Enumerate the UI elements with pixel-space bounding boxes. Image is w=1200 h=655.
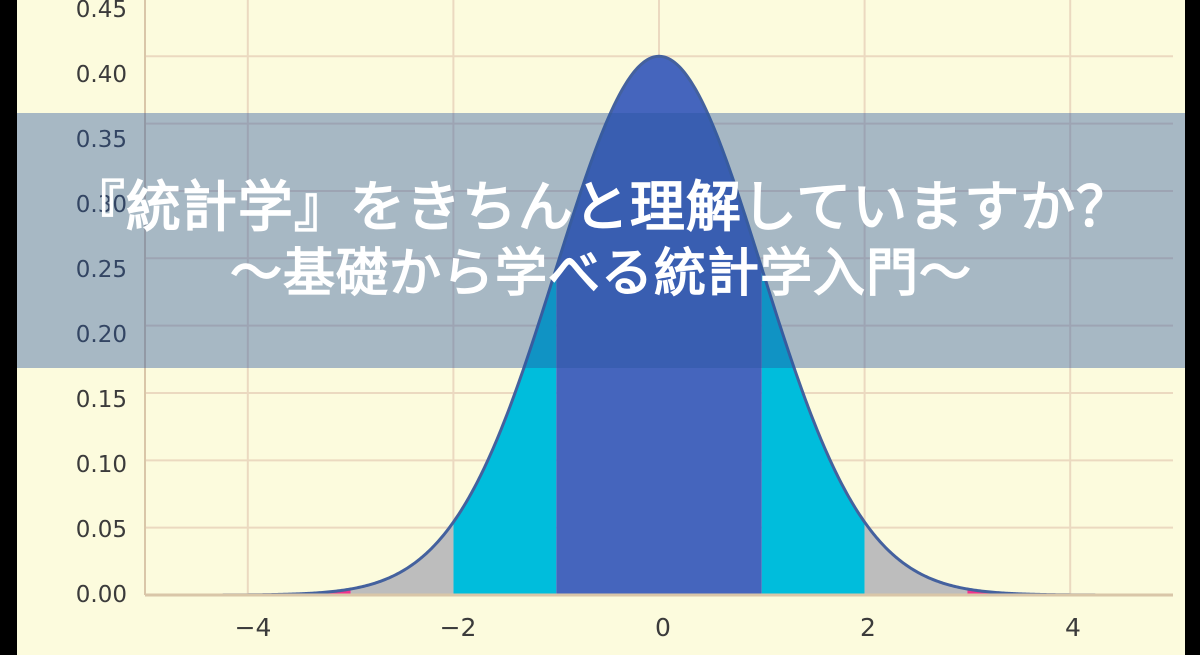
x-tick-label: −4 [213, 613, 293, 642]
x-tick-label: 4 [1033, 613, 1113, 642]
x-tick-label: 0 [623, 613, 703, 642]
shaded-region-2-to-3-sd-r [865, 522, 968, 595]
shaded-region-2-to-3-sd [351, 522, 454, 595]
y-tick-label: 0.15 [17, 387, 127, 413]
title-line-1: 『統計学』をきちんと理解していますか？ [70, 175, 1132, 240]
y-tick-label: 0.40 [17, 62, 127, 88]
screenshot-root: Probability density 0.45 0.40 0.35 0.30 … [0, 0, 1200, 655]
title-line-2: 〜基礎から学べる統計学入門〜 [230, 244, 972, 305]
y-tick-label: 0.05 [17, 517, 127, 543]
y-tick-label: 0.45 [17, 0, 127, 23]
y-tick-label: 0.10 [17, 452, 127, 478]
left-letterbox-bar [0, 0, 17, 655]
x-tick-label: 2 [828, 613, 908, 642]
right-letterbox-bar [1185, 0, 1200, 655]
title-overlay-text: 『統計学』をきちんと理解していますか？ 〜基礎から学べる統計学入門〜 [17, 113, 1185, 368]
y-tick-label: 0.00 [17, 582, 127, 608]
x-tick-label: −2 [418, 613, 498, 642]
